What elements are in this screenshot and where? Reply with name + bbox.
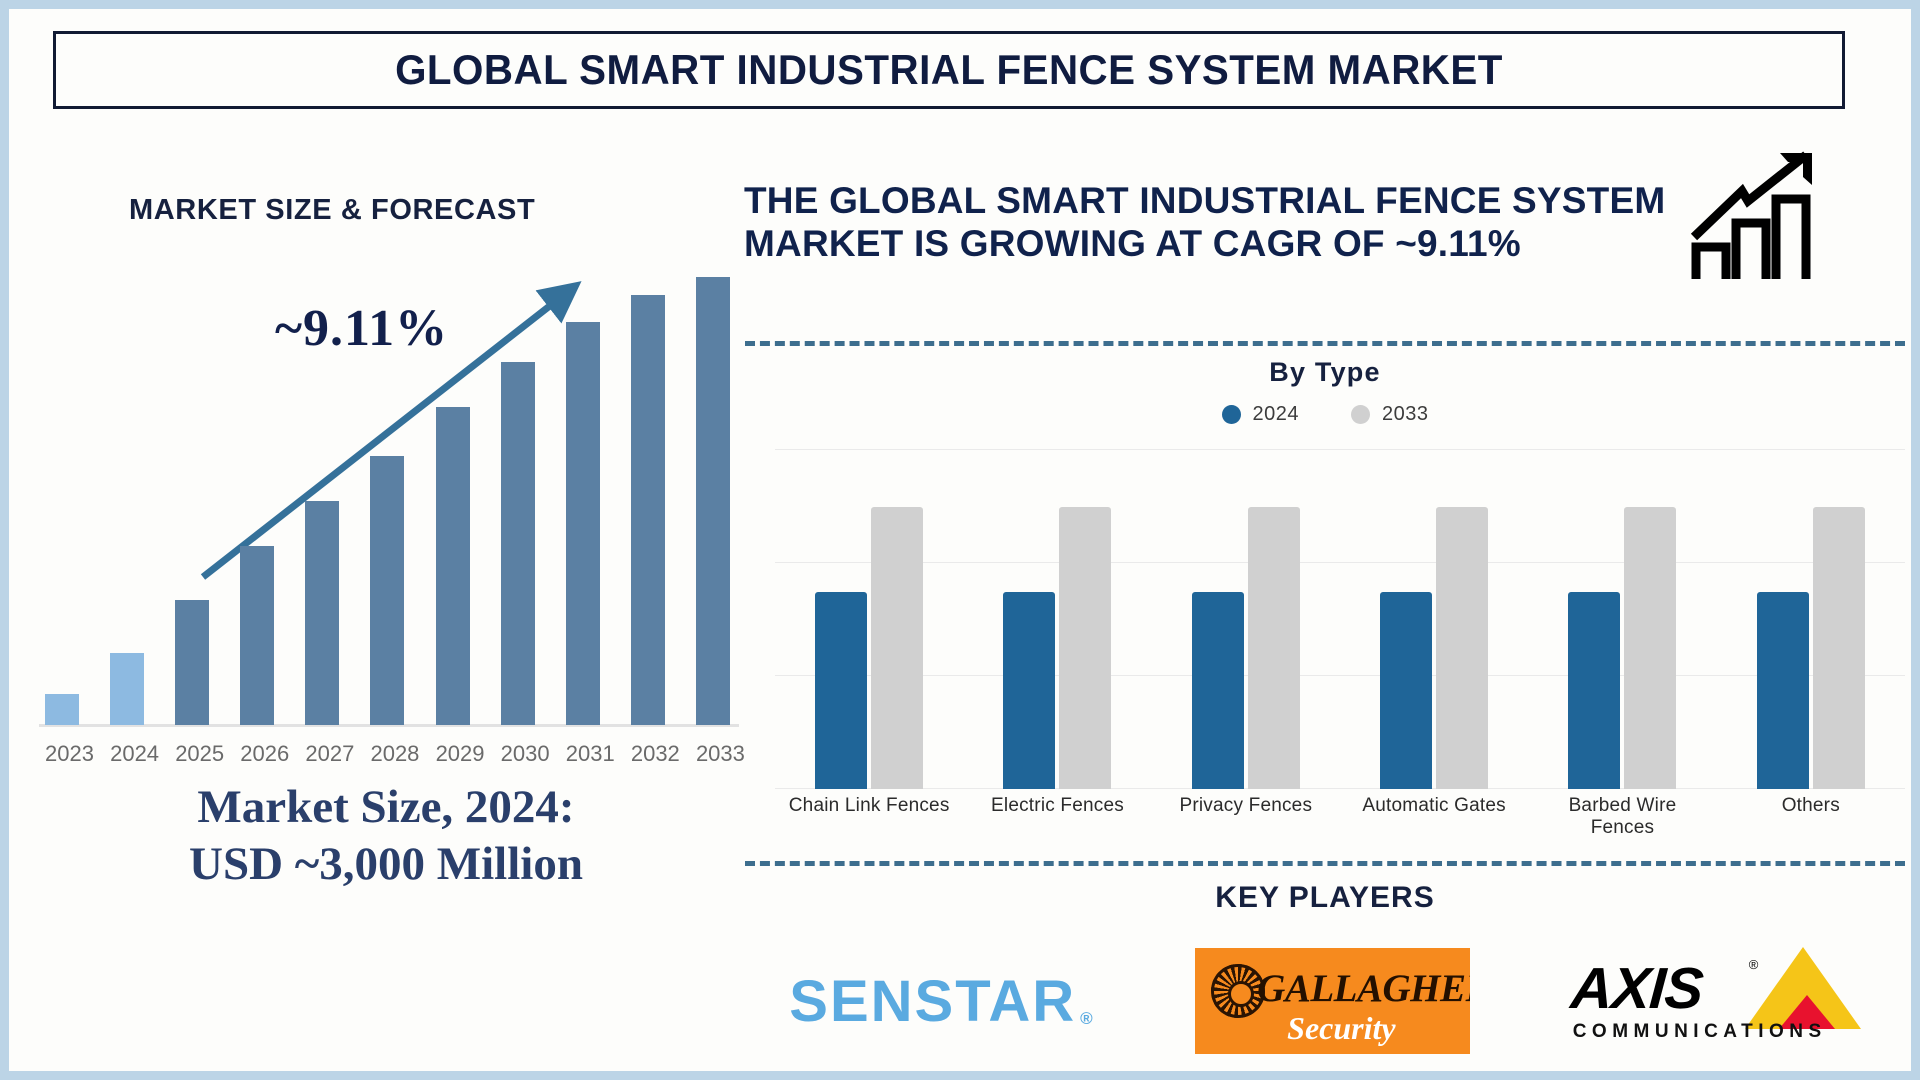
legend-dot-2033 [1351,405,1370,424]
bar-2033-barbed-wire-fences [1624,507,1676,789]
category-label: Automatic Gates [1349,795,1519,839]
category-label: Privacy Fences [1161,795,1331,839]
logo-gallagher-subtext: Security [1287,1010,1395,1047]
year-label: 2024 [110,741,144,767]
bar-2026 [240,546,274,725]
growth-headline: THE GLOBAL SMART INDUSTRIAL FENCE SYSTEM… [744,179,1674,266]
logo-senstar-text: SENSTAR [789,968,1076,1035]
bar-2028 [370,456,404,725]
year-label: 2027 [305,741,339,767]
category-label: Barbed Wire Fences [1537,795,1707,839]
bar-group-chain-link-fences [815,449,923,789]
bar-group-privacy-fences [1192,449,1300,789]
left-chart-bars [45,277,730,725]
bar-2024-others [1757,592,1809,789]
bar-2031 [566,322,600,725]
right-panel: THE GLOBAL SMART INDUSTRIAL FENCE SYSTEM… [739,119,1911,1064]
by-type-bars [775,449,1905,789]
logo-axis-text: AXIS [1568,955,1704,1022]
divider-bottom [745,861,1905,866]
year-label: 2023 [45,741,79,767]
bar-2033-electric-fences [1059,507,1111,789]
bar-group-automatic-gates [1380,449,1488,789]
legend-dot-2024 [1222,405,1241,424]
bar-2027 [305,501,339,725]
divider-top [745,341,1905,346]
year-label: 2033 [696,741,730,767]
bar-2024-privacy-fences [1192,592,1244,789]
legend-item-2024[interactable]: 2024 [1222,403,1300,426]
bar-2033-automatic-gates [1436,507,1488,789]
year-label: 2025 [175,741,209,767]
logo-axis-registered-icon: ® [1749,957,1759,972]
market-size-line1: Market Size, 2024: [25,779,747,836]
bar-2032 [631,295,665,725]
bar-2023 [45,694,79,725]
logo-axis-subtext: COMMUNICATIONS [1573,1021,1827,1043]
logo-senstar-registered-icon: ® [1080,1009,1095,1029]
by-type-category-labels: Chain Link Fences Electric Fences Privac… [775,795,1905,839]
legend-label-2033: 2033 [1382,403,1429,426]
key-players-logos: SENSTAR ® GALLAGHER Security AXIS ® COMM… [739,941,1911,1061]
market-size-footer: Market Size, 2024: USD ~3,000 Million [25,779,747,894]
left-chart-year-labels: 2023 2024 2025 2026 2027 2028 2029 2030 … [45,741,730,767]
bar-2030 [501,362,535,725]
logo-gallagher-text: GALLAGHER [1257,966,1470,1011]
key-players-title: KEY PLAYERS [739,881,1911,915]
year-label: 2031 [566,741,600,767]
growth-arrow-bars-icon [1684,147,1824,287]
category-label: Chain Link Fences [784,795,954,839]
year-label: 2026 [240,741,274,767]
infographic-page: GLOBAL SMART INDUSTRIAL FENCE SYSTEM MAR… [0,0,1920,1080]
bar-2033-chain-link-fences [871,507,923,789]
bar-2029 [436,407,470,725]
market-size-line2: USD ~3,000 Million [25,836,747,893]
bar-group-electric-fences [1003,449,1111,789]
by-type-legend: 2024 2033 [739,403,1911,426]
page-title: GLOBAL SMART INDUSTRIAL FENCE SYSTEM MAR… [395,46,1503,94]
by-type-chart [775,449,1905,789]
bar-2024-barbed-wire-fences [1568,592,1620,789]
logo-axis: AXIS ® COMMUNICATIONS [1571,947,1861,1055]
legend-item-2033[interactable]: 2033 [1351,403,1429,426]
logo-gallagher: GALLAGHER Security [1195,948,1470,1054]
bar-group-barbed-wire-fences [1568,449,1676,789]
year-label: 2032 [631,741,665,767]
bar-2024-electric-fences [1003,592,1055,789]
bar-group-others [1757,449,1865,789]
bar-2024 [110,653,144,725]
by-type-title: By Type [739,357,1911,388]
bar-2024-automatic-gates [1380,592,1432,789]
market-size-forecast-chart: ~9.11% [25,259,747,759]
page-title-box: GLOBAL SMART INDUSTRIAL FENCE SYSTEM MAR… [53,31,1845,109]
bar-2033-others [1813,507,1865,789]
year-label: 2030 [501,741,535,767]
category-label: Electric Fences [972,795,1142,839]
bar-2025 [175,600,209,725]
year-label: 2029 [436,741,470,767]
legend-label-2024: 2024 [1253,403,1300,426]
growth-headline-block: THE GLOBAL SMART INDUSTRIAL FENCE SYSTEM… [744,179,1674,266]
left-panel: MARKET SIZE & FORECAST ~9.11% [25,119,747,1064]
bar-2033 [696,277,730,725]
bar-2033-privacy-fences [1248,507,1300,789]
category-label: Others [1726,795,1896,839]
logo-senstar: SENSTAR ® [789,968,1094,1035]
market-size-forecast-heading: MARKET SIZE & FORECAST [129,194,535,227]
year-label: 2028 [370,741,404,767]
bar-2024-chain-link-fences [815,592,867,789]
